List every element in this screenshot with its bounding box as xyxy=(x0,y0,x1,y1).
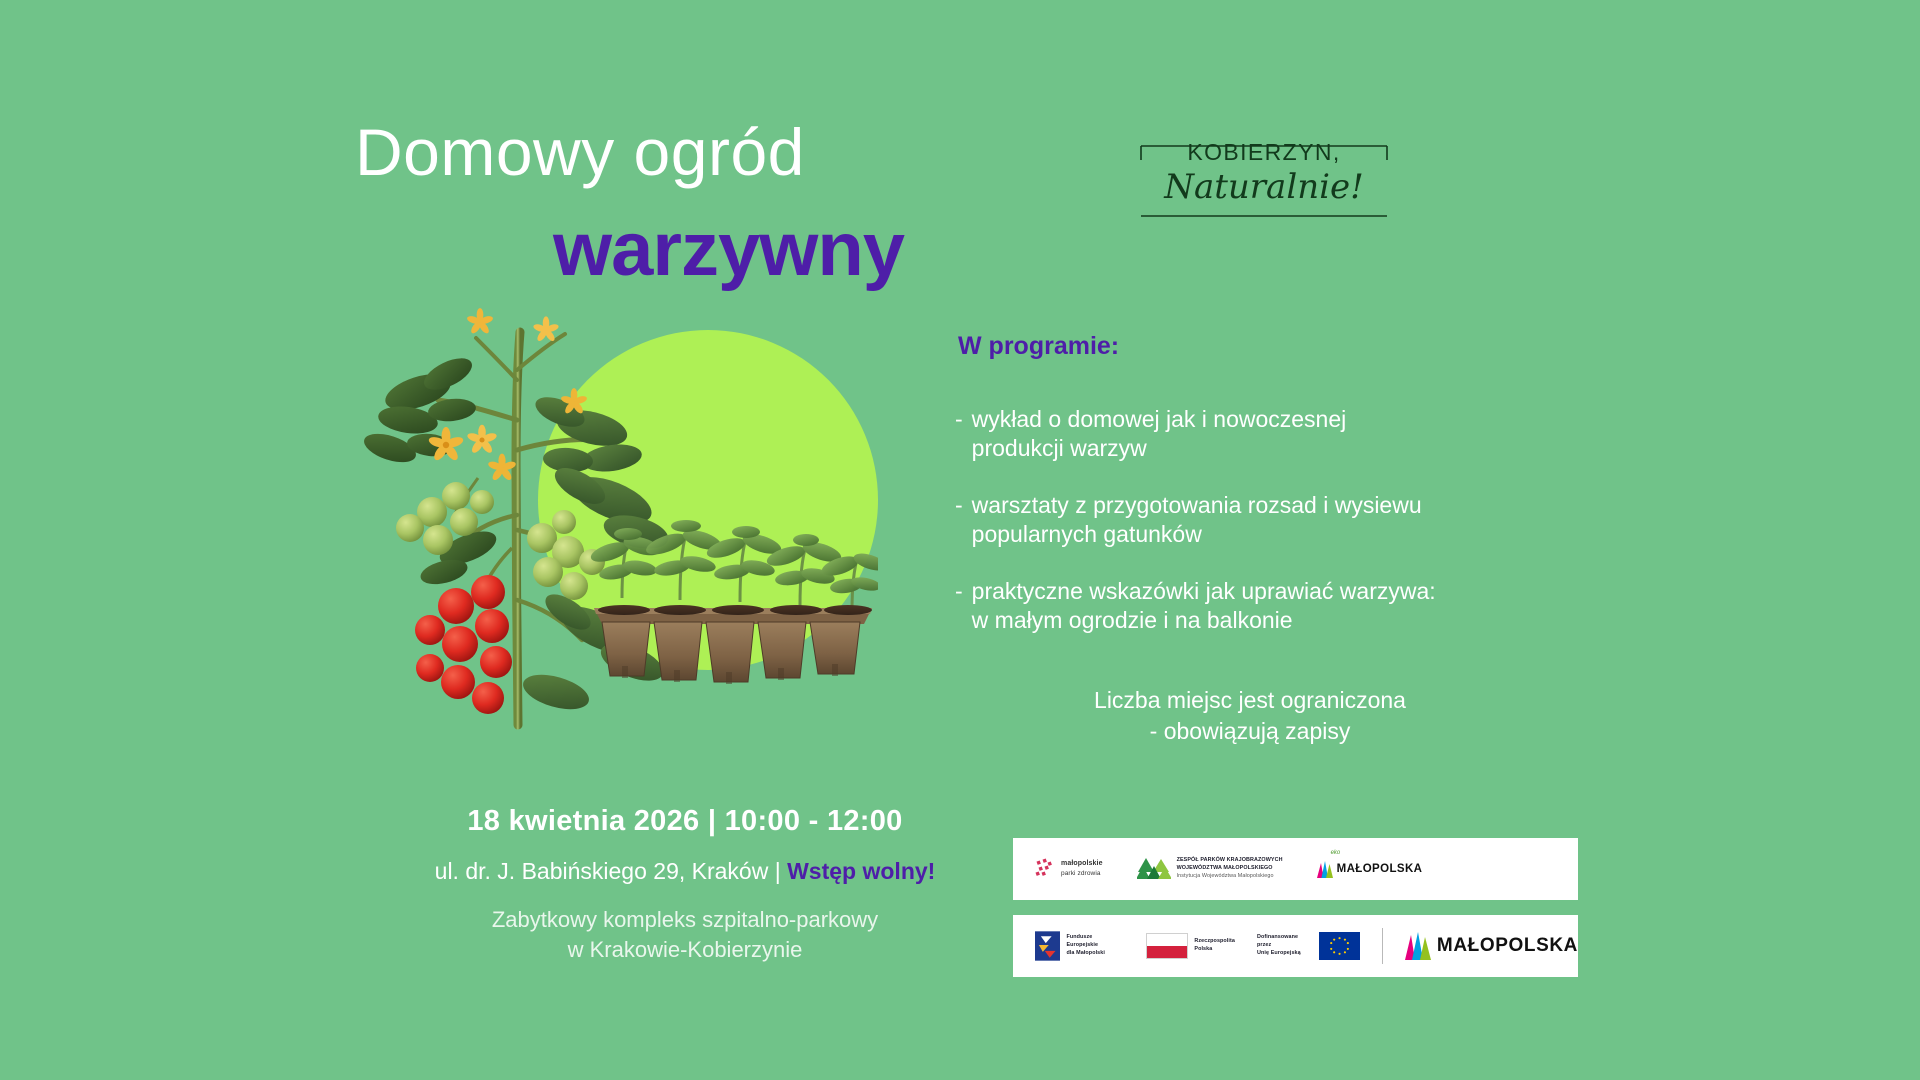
rzeczpospolita-text: Rzeczpospolita Polska xyxy=(1194,938,1235,954)
malopolska-logo: MAŁOPOLSKA xyxy=(1405,932,1578,960)
svg-text:KOBIERZYN,: KOBIERZYN, xyxy=(1187,139,1340,165)
dofinansowane-line2: Unię Europejską xyxy=(1257,950,1301,956)
sponsor-bar-top: małopolskie parki zdrowia ZESPÓŁ PARKÓW … xyxy=(1013,838,1578,900)
zespol-parkow-line2: WOJEWÓDZTWA MAŁOPOLSKIEGO xyxy=(1177,865,1273,871)
eko-label: eko xyxy=(1331,850,1341,856)
rzeczpospolita-line1: Rzeczpospolita xyxy=(1194,938,1235,944)
malopolska-wordmark: MAŁOPOLSKA xyxy=(1437,935,1578,957)
limited-seats-note: Liczba miejsc jest ograniczona - obowiąz… xyxy=(1020,685,1480,747)
malopolska-eko-wordmark: MAŁOPOLSKA xyxy=(1337,863,1423,875)
bullet-dash: - xyxy=(955,405,963,464)
poster-canvas: Domowy ogród warzywny KOBIERZYN, Natural… xyxy=(0,0,1920,1080)
program-list-item: - praktyczne wskazówki jak uprawiać warz… xyxy=(955,577,1575,636)
dofinansowane-text: Dofinansowane przez Unię Europejską xyxy=(1257,934,1313,957)
rzeczpospolita-line2: Polska xyxy=(1194,946,1212,952)
rzeczpospolita-polska-logo: Rzeczpospolita Polska xyxy=(1146,933,1235,959)
program-list-item: - warsztaty z przygotowania rozsad i wys… xyxy=(955,491,1575,550)
parki-zdrowia-mark xyxy=(1035,858,1055,880)
bullet-dash: - xyxy=(955,577,963,636)
fundusze-line1: Fundusze Europejskie xyxy=(1066,934,1098,948)
malopolska-m-mark xyxy=(1405,932,1431,960)
program-item-text: warsztaty z przygotowania rozsad i wysie… xyxy=(972,491,1422,550)
program-list: - wykład o domowej jak i nowoczesnej pro… xyxy=(955,405,1575,663)
logo-divider xyxy=(1382,928,1383,964)
event-date-time: 18 kwietnia 2026 | 10:00 - 12:00 xyxy=(405,805,965,838)
dofinansowane-przez-ue-logo: Dofinansowane przez Unię Europejską xyxy=(1257,932,1360,960)
program-item-text: wykład o domowej jak i nowoczesnej produ… xyxy=(972,405,1347,464)
program-item-text: praktyczne wskazówki jak uprawiać warzyw… xyxy=(972,577,1436,636)
zespol-parkow-krajobrazowych-logo: ZESPÓŁ PARKÓW KRAJOBRAZOWYCH WOJEWÓDZTWA… xyxy=(1137,857,1283,881)
malopolskie-parki-zdrowia-logo: małopolskie parki zdrowia xyxy=(1035,858,1103,880)
fundusze-line2: dla Małopolski xyxy=(1066,950,1105,956)
fundusze-europejskie-logo: Fundusze Europejskie dla Małopolski xyxy=(1035,931,1124,961)
parki-zdrowia-line1: małopolskie xyxy=(1061,860,1103,867)
program-heading: W programie: xyxy=(958,332,1119,361)
malopolska-m-mark xyxy=(1317,861,1333,878)
seedling-tray-graphic xyxy=(588,490,878,690)
kobierzyn-naturalnie-logo: KOBIERZYN, Naturalnie! xyxy=(1139,130,1389,230)
tomato-plant-and-seedling-tray-illustration xyxy=(360,300,950,730)
poland-flag-icon xyxy=(1146,933,1188,959)
parki-zdrowia-text: małopolskie parki zdrowia xyxy=(1061,859,1103,879)
event-address: ul. dr. J. Babińskiego 29, Kraków | Wstę… xyxy=(375,858,995,885)
free-entry-badge: Wstęp wolny! xyxy=(787,858,935,884)
dofinansowane-line1: Dofinansowane przez xyxy=(1257,934,1298,948)
fundusze-europejskie-text: Fundusze Europejskie dla Małopolski xyxy=(1066,934,1124,957)
fundusze-europejskie-mark xyxy=(1035,931,1060,961)
event-venue: Zabytkowy kompleks szpitalno-parkowy w K… xyxy=(395,905,975,964)
zespol-parkow-line1: ZESPÓŁ PARKÓW KRAJOBRAZOWYCH xyxy=(1177,857,1283,863)
page-title: Domowy ogród xyxy=(355,118,805,187)
parks-triangles-mark xyxy=(1137,857,1171,881)
parki-zdrowia-line2: parki zdrowia xyxy=(1061,869,1103,878)
bullet-dash: - xyxy=(955,491,963,550)
program-list-item: - wykład o domowej jak i nowoczesnej pro… xyxy=(955,405,1575,464)
sponsor-bar-bottom: Fundusze Europejskie dla Małopolski Rzec… xyxy=(1013,915,1578,977)
zespol-parkow-line3: Instytucja Województwa Małopolskiego xyxy=(1177,873,1274,879)
page-subtitle-accent: warzywny xyxy=(553,212,904,288)
address-text: ul. dr. J. Babińskiego 29, Kraków | xyxy=(435,858,787,884)
eu-flag-icon xyxy=(1319,932,1360,960)
zespol-parkow-text: ZESPÓŁ PARKÓW KRAJOBRAZOWYCH WOJEWÓDZTWA… xyxy=(1177,857,1283,880)
svg-text:Naturalnie!: Naturalnie! xyxy=(1163,167,1364,207)
malopolska-eko-logo: eko MAŁOPOLSKA xyxy=(1317,861,1423,878)
